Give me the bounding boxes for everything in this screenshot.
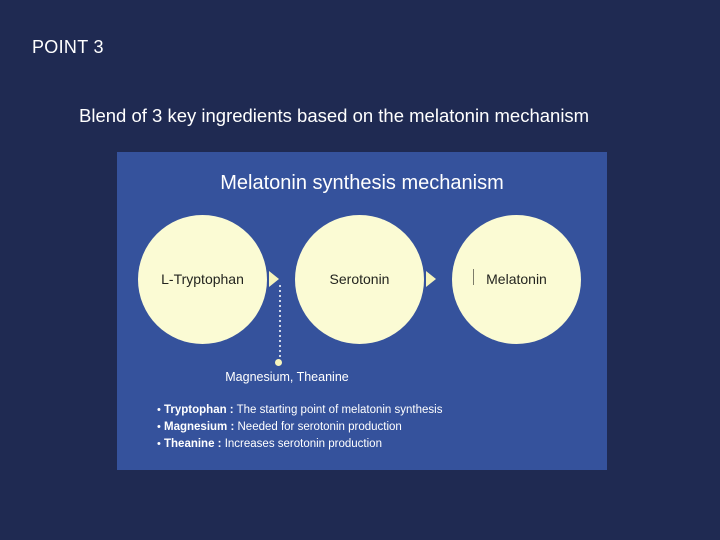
connector-end-dot-icon bbox=[275, 359, 282, 366]
dotted-connector-line bbox=[279, 285, 281, 363]
node-serotonin: Serotonin bbox=[295, 215, 424, 344]
node-l-tryptophan: L-Tryptophan bbox=[138, 215, 267, 344]
bullet-point-icon: • bbox=[142, 436, 164, 452]
page-title: POINT 3 bbox=[32, 37, 104, 58]
list-item-term: Theanine : bbox=[164, 436, 222, 452]
text-cursor-icon bbox=[473, 269, 474, 285]
list-item: • Magnesium : Needed for serotonin produ… bbox=[142, 419, 592, 435]
node-label-serotonin: Serotonin bbox=[330, 271, 390, 288]
list-item: • Theanine : Increases serotonin product… bbox=[142, 436, 592, 452]
node-melatonin: Melatonin bbox=[452, 215, 581, 344]
node-label-melatonin: Melatonin bbox=[486, 271, 547, 288]
cofactor-label: Magnesium, Theanine bbox=[117, 370, 457, 384]
list-item-description: Increases serotonin production bbox=[222, 436, 382, 452]
bullet-point-icon: • bbox=[142, 419, 164, 435]
arrow-right-icon bbox=[426, 271, 436, 287]
slide-subtitle: Blend of 3 key ingredients based on the … bbox=[79, 105, 589, 127]
bullet-list: • Tryptophan : The starting point of mel… bbox=[142, 402, 592, 453]
list-item-term: Magnesium : bbox=[164, 419, 234, 435]
mechanism-diagram-panel: Melatonin synthesis mechanism L-Tryptoph… bbox=[117, 152, 607, 470]
node-label-l-tryptophan: L-Tryptophan bbox=[161, 271, 244, 288]
list-item-term: Tryptophan : bbox=[164, 402, 234, 418]
list-item-description: The starting point of melatonin synthesi… bbox=[234, 402, 443, 418]
slide-canvas: POINT 3 Blend of 3 key ingredients based… bbox=[0, 0, 720, 540]
diagram-title: Melatonin synthesis mechanism bbox=[117, 172, 607, 195]
arrow-right-icon bbox=[269, 271, 279, 287]
list-item: • Tryptophan : The starting point of mel… bbox=[142, 402, 592, 418]
list-item-description: Needed for serotonin production bbox=[234, 419, 402, 435]
bullet-point-icon: • bbox=[142, 402, 164, 418]
